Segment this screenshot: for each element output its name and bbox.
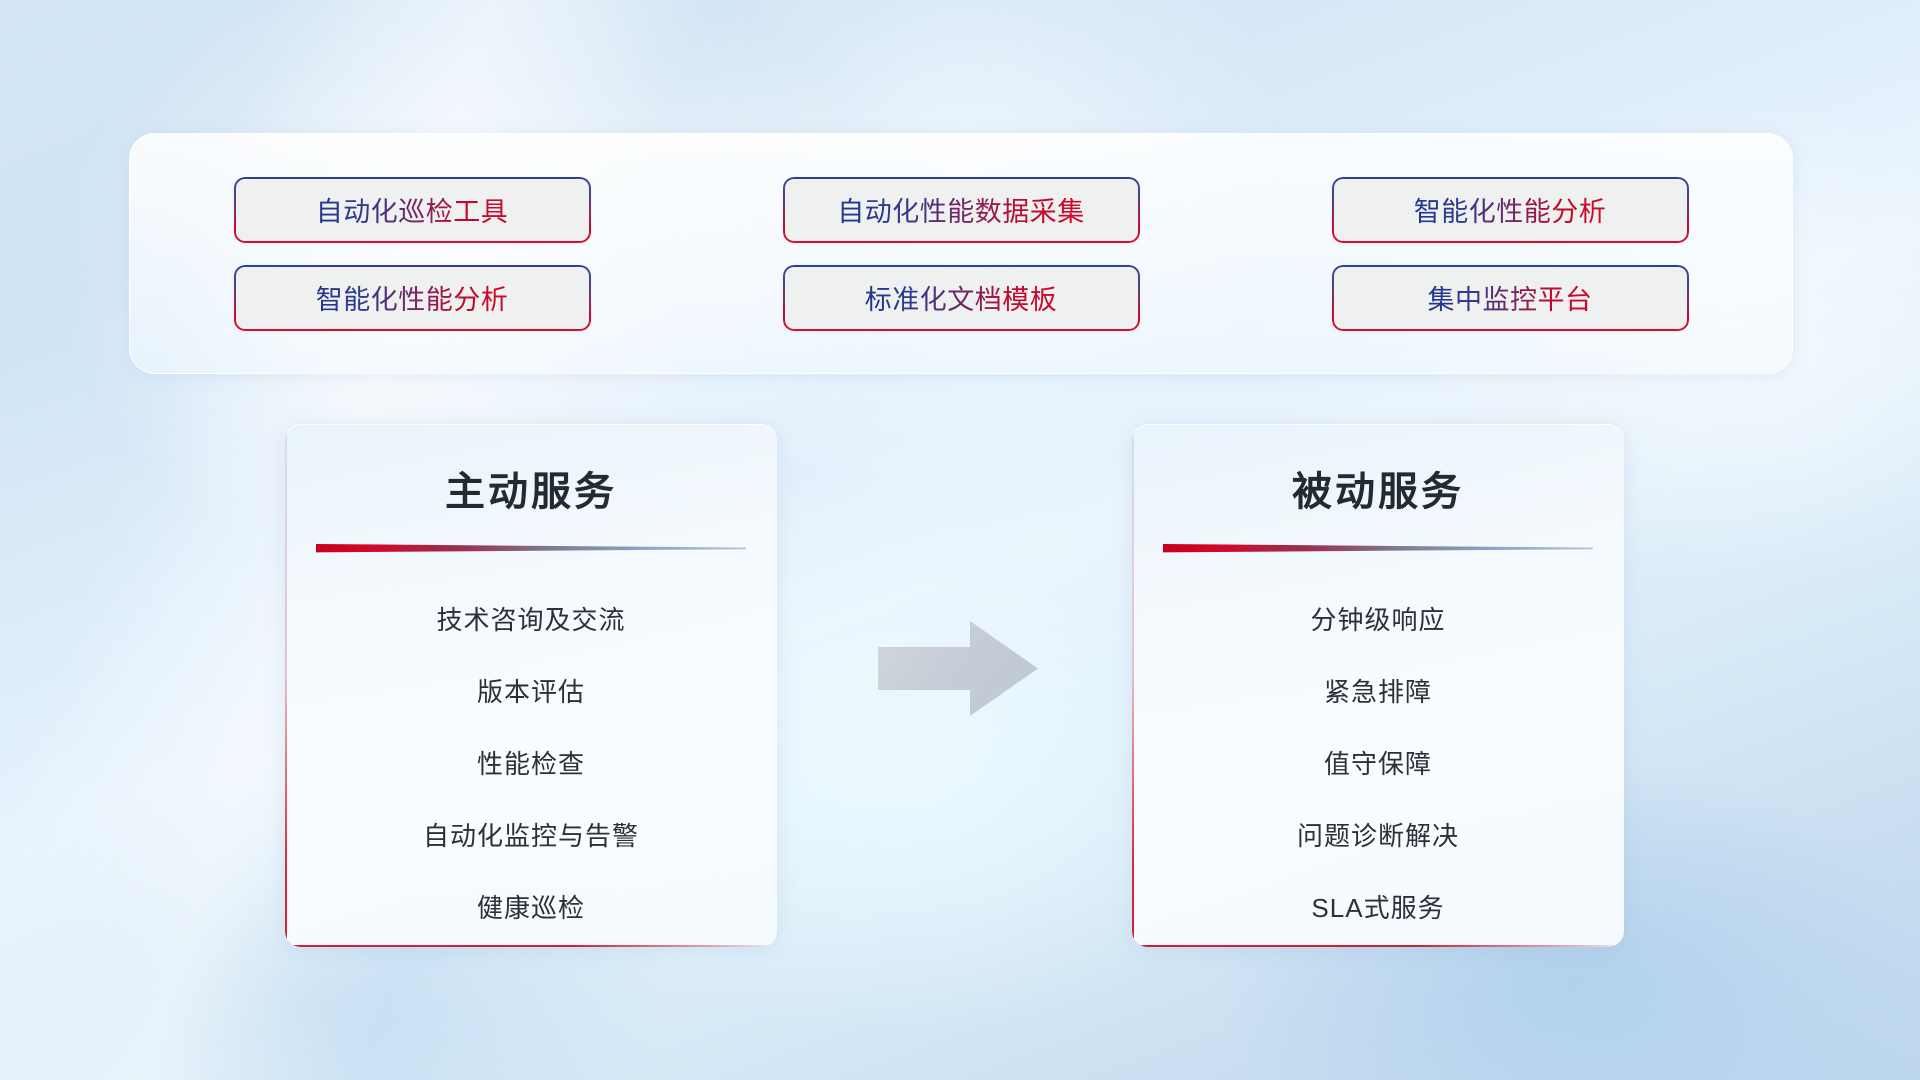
capability-pill-label: 智能化性能分析	[316, 278, 509, 317]
list-item: 紧急排障	[1132, 656, 1624, 728]
list-item: 问题诊断解决	[1132, 800, 1624, 872]
service-card-reactive: 被动服务 分钟级响应 紧急排障 值守保障	[1132, 424, 1624, 947]
service-item-list: 分钟级响应 紧急排障 值守保障 问题诊断解决 SLA式服务	[1132, 584, 1624, 944]
service-card-proactive: 主动服务 技术咨询及交流 版本评估 性能检查	[285, 424, 777, 947]
capability-pill[interactable]: 智能化性能分析	[234, 265, 591, 331]
capability-pill[interactable]: 标准化文档模板	[783, 265, 1140, 331]
capability-pill-label: 自动化巡检工具	[316, 190, 509, 229]
title-divider	[316, 543, 746, 554]
capability-pill[interactable]: 自动化性能数据采集	[783, 177, 1140, 243]
slide-canvas: 自动化巡检工具 自动化性能数据采集 智能化性能分析 智能化性能分析 标准化文档模…	[0, 0, 1920, 1080]
capability-pill-label: 集中监控平台	[1428, 278, 1593, 317]
capability-pill[interactable]: 集中监控平台	[1332, 265, 1689, 331]
capability-pill-label: 自动化性能数据采集	[837, 190, 1085, 229]
service-item-list: 技术咨询及交流 版本评估 性能检查 自动化监控与告警 健康巡检	[285, 584, 777, 944]
list-item: 值守保障	[1132, 728, 1624, 800]
arrow-right-icon	[878, 621, 1038, 716]
card-title: 被动服务	[1132, 459, 1624, 517]
list-item: SLA式服务	[1132, 872, 1624, 944]
capabilities-panel: 自动化巡检工具 自动化性能数据采集 智能化性能分析 智能化性能分析 标准化文档模…	[129, 133, 1793, 374]
list-item: 自动化监控与告警	[285, 800, 777, 872]
card-title: 主动服务	[285, 459, 777, 517]
list-item: 健康巡检	[285, 872, 777, 944]
capability-pill-label: 标准化文档模板	[865, 278, 1058, 317]
capability-pill-grid: 自动化巡检工具 自动化性能数据采集 智能化性能分析 智能化性能分析 标准化文档模…	[130, 177, 1792, 331]
list-item: 技术咨询及交流	[285, 584, 777, 656]
list-item: 性能检查	[285, 728, 777, 800]
capability-pill[interactable]: 智能化性能分析	[1332, 177, 1689, 243]
list-item: 版本评估	[285, 656, 777, 728]
title-divider	[1163, 543, 1593, 554]
capability-pill-label: 智能化性能分析	[1414, 190, 1607, 229]
list-item: 分钟级响应	[1132, 584, 1624, 656]
capability-pill[interactable]: 自动化巡检工具	[234, 177, 591, 243]
